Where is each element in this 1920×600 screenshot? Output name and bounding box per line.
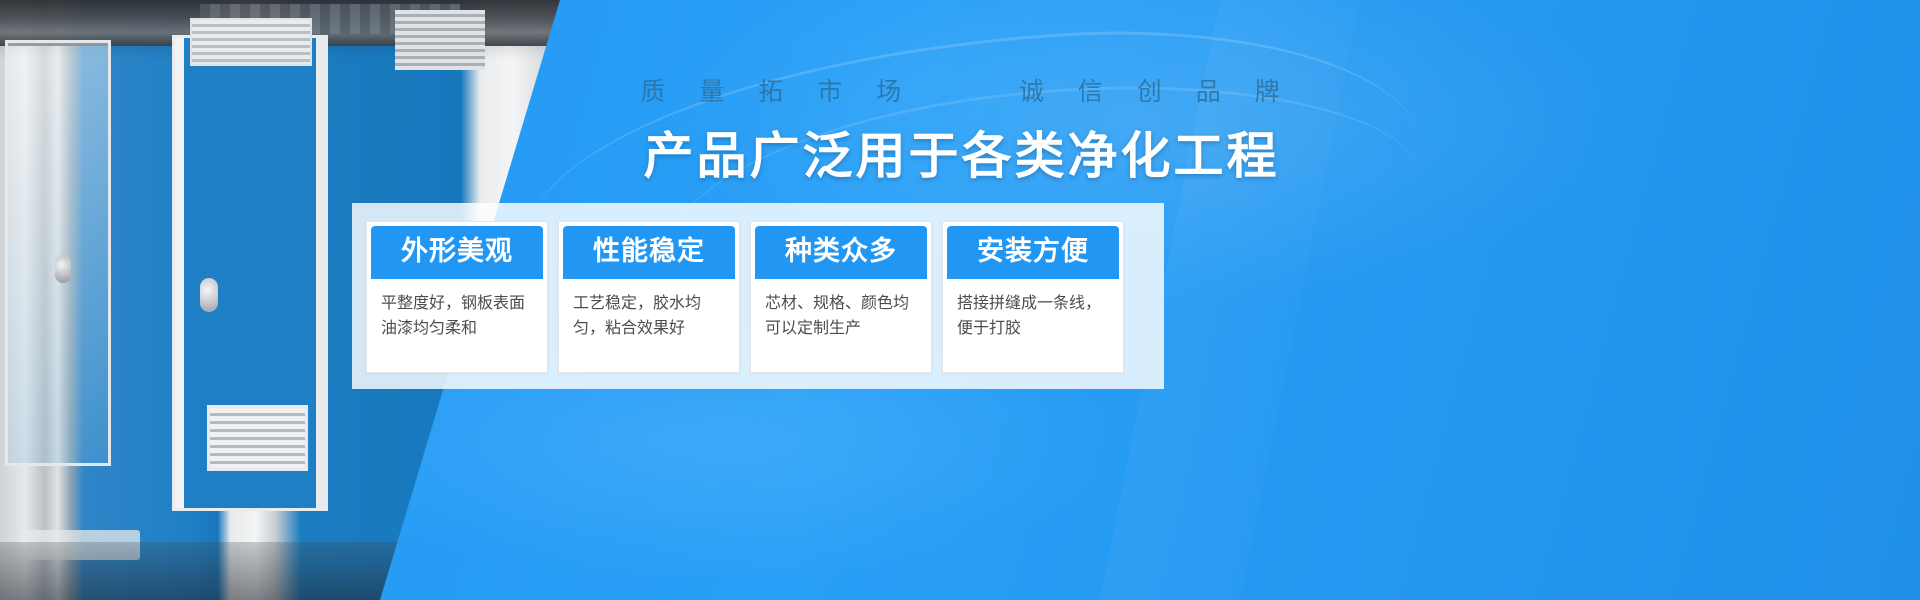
- feature-card[interactable]: 安装方便 搭接拼缝成一条线，便于打胶: [942, 221, 1124, 373]
- feature-card-title: 外形美观: [371, 226, 543, 279]
- cabin-lower-vent: [207, 405, 308, 471]
- feature-card-body: 平整度好，钢板表面油漆均匀柔和: [367, 279, 547, 355]
- feature-card[interactable]: 性能稳定 工艺稳定，胶水均匀，粘合效果好: [558, 221, 740, 373]
- feature-card[interactable]: 种类众多 芯材、规格、颜色均可以定制生产: [750, 221, 932, 373]
- cabin-upper-vent: [190, 18, 312, 66]
- banner-headline: 产品广泛用于各类净化工程: [0, 116, 1920, 188]
- feature-card-title: 性能稳定: [563, 226, 735, 279]
- cabin-door-handle: [200, 278, 218, 312]
- feature-card[interactable]: 外形美观 平整度好，钢板表面油漆均匀柔和: [366, 221, 548, 373]
- feature-card-body: 工艺稳定，胶水均匀，粘合效果好: [559, 279, 739, 355]
- cabin-door-handle-secondary: [55, 255, 71, 283]
- promo-banner: 质 量 拓 市 场 诚 信 创 品 牌 产品广泛用于各类净化工程 外形美观 平整…: [0, 0, 1920, 600]
- feature-card-body: 搭接拼缝成一条线，便于打胶: [943, 279, 1123, 355]
- cabin-side-vent: [395, 10, 485, 70]
- feature-cards-list: 外形美观 平整度好，钢板表面油漆均匀柔和 性能稳定 工艺稳定，胶水均匀，粘合效果…: [352, 203, 1138, 391]
- feature-card-title: 种类众多: [755, 226, 927, 279]
- feature-cards-panel: 外形美观 平整度好，钢板表面油漆均匀柔和 性能稳定 工艺稳定，胶水均匀，粘合效果…: [352, 203, 1164, 389]
- feature-card-body: 芯材、规格、颜色均可以定制生产: [751, 279, 931, 355]
- feature-card-title: 安装方便: [947, 226, 1119, 279]
- banner-tagline: 质 量 拓 市 场 诚 信 创 品 牌: [0, 72, 1920, 108]
